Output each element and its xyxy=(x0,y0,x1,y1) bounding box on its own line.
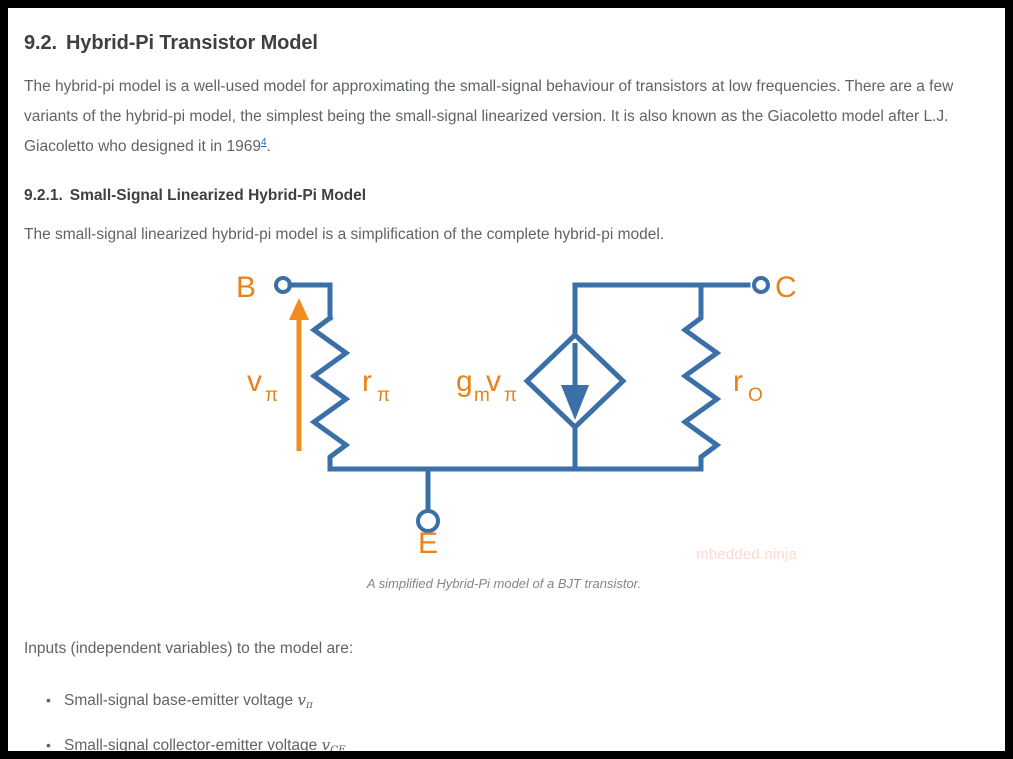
hybrid-pi-circuit-figure: B C E v π r π g m v π r xyxy=(24,268,984,618)
subsection-paragraph: The small-signal linearized hybrid-pi mo… xyxy=(24,220,969,250)
subsection-title: 9.2.1.Small-Signal Linearized Hybrid-Pi … xyxy=(24,186,984,206)
circuit-diagram-svg: B C E v π r π g m v π r xyxy=(24,268,984,568)
terminal-node-collector xyxy=(754,278,768,292)
resistor-rpi-zigzag xyxy=(314,318,346,469)
figure-caption: A simplified Hybrid-Pi model of a BJT tr… xyxy=(24,576,984,591)
label-gm-v-pi: g m v π xyxy=(456,365,517,406)
subsection-number: 9.2.1. xyxy=(24,187,63,204)
label-r-pi: r π xyxy=(362,365,390,406)
svg-text:π: π xyxy=(504,385,517,406)
label-terminal-c: C xyxy=(775,271,797,304)
intro-paragraph: The hybrid-pi model is a well-used model… xyxy=(24,72,969,162)
resistor-ro-zigzag xyxy=(685,285,717,469)
inputs-list: Small-signal base-emitter voltage vπ Sma… xyxy=(24,678,984,751)
page-title: 9.2.Hybrid-Pi Transistor Model xyxy=(24,30,984,56)
label-v-pi: v π xyxy=(247,365,278,406)
svg-text:π: π xyxy=(265,385,278,406)
svg-text:g: g xyxy=(456,365,473,398)
svg-text:v: v xyxy=(247,365,262,398)
math-v-ce: vCE xyxy=(322,736,346,751)
label-terminal-e: E xyxy=(418,527,438,560)
svg-text:r: r xyxy=(362,365,372,398)
intro-paragraph-text: The hybrid-pi model is a well-used model… xyxy=(24,78,953,155)
label-terminal-b: B xyxy=(236,271,256,304)
subsection-title-text: Small-Signal Linearized Hybrid-Pi Model xyxy=(70,187,366,204)
label-r-o: r O xyxy=(733,365,763,406)
intro-paragraph-period: . xyxy=(267,138,271,155)
watermark: mbedded.ninja xyxy=(696,546,797,563)
svg-text:O: O xyxy=(748,385,763,406)
svg-text:π: π xyxy=(377,385,390,406)
v-pi-voltage-arrow xyxy=(289,298,309,451)
list-item-text: Small-signal base-emitter voltage xyxy=(64,692,297,709)
svg-text:v: v xyxy=(486,365,501,398)
section-number: 9.2. xyxy=(24,32,57,54)
list-item: Small-signal collector-emitter voltage v… xyxy=(64,723,984,751)
math-v-pi: vπ xyxy=(297,691,312,709)
list-item: Small-signal base-emitter voltage vπ xyxy=(64,678,984,723)
article-content: 9.2.Hybrid-Pi Transistor Model The hybri… xyxy=(24,16,984,751)
current-source-arrow xyxy=(561,343,589,420)
section-title: Hybrid-Pi Transistor Model xyxy=(66,32,318,54)
list-item-text: Small-signal collector-emitter voltage xyxy=(64,737,322,751)
svg-text:r: r xyxy=(733,365,743,398)
page-frame: 9.2.Hybrid-Pi Transistor Model The hybri… xyxy=(8,8,1005,751)
inputs-intro: Inputs (independent variables) to the mo… xyxy=(24,634,969,664)
